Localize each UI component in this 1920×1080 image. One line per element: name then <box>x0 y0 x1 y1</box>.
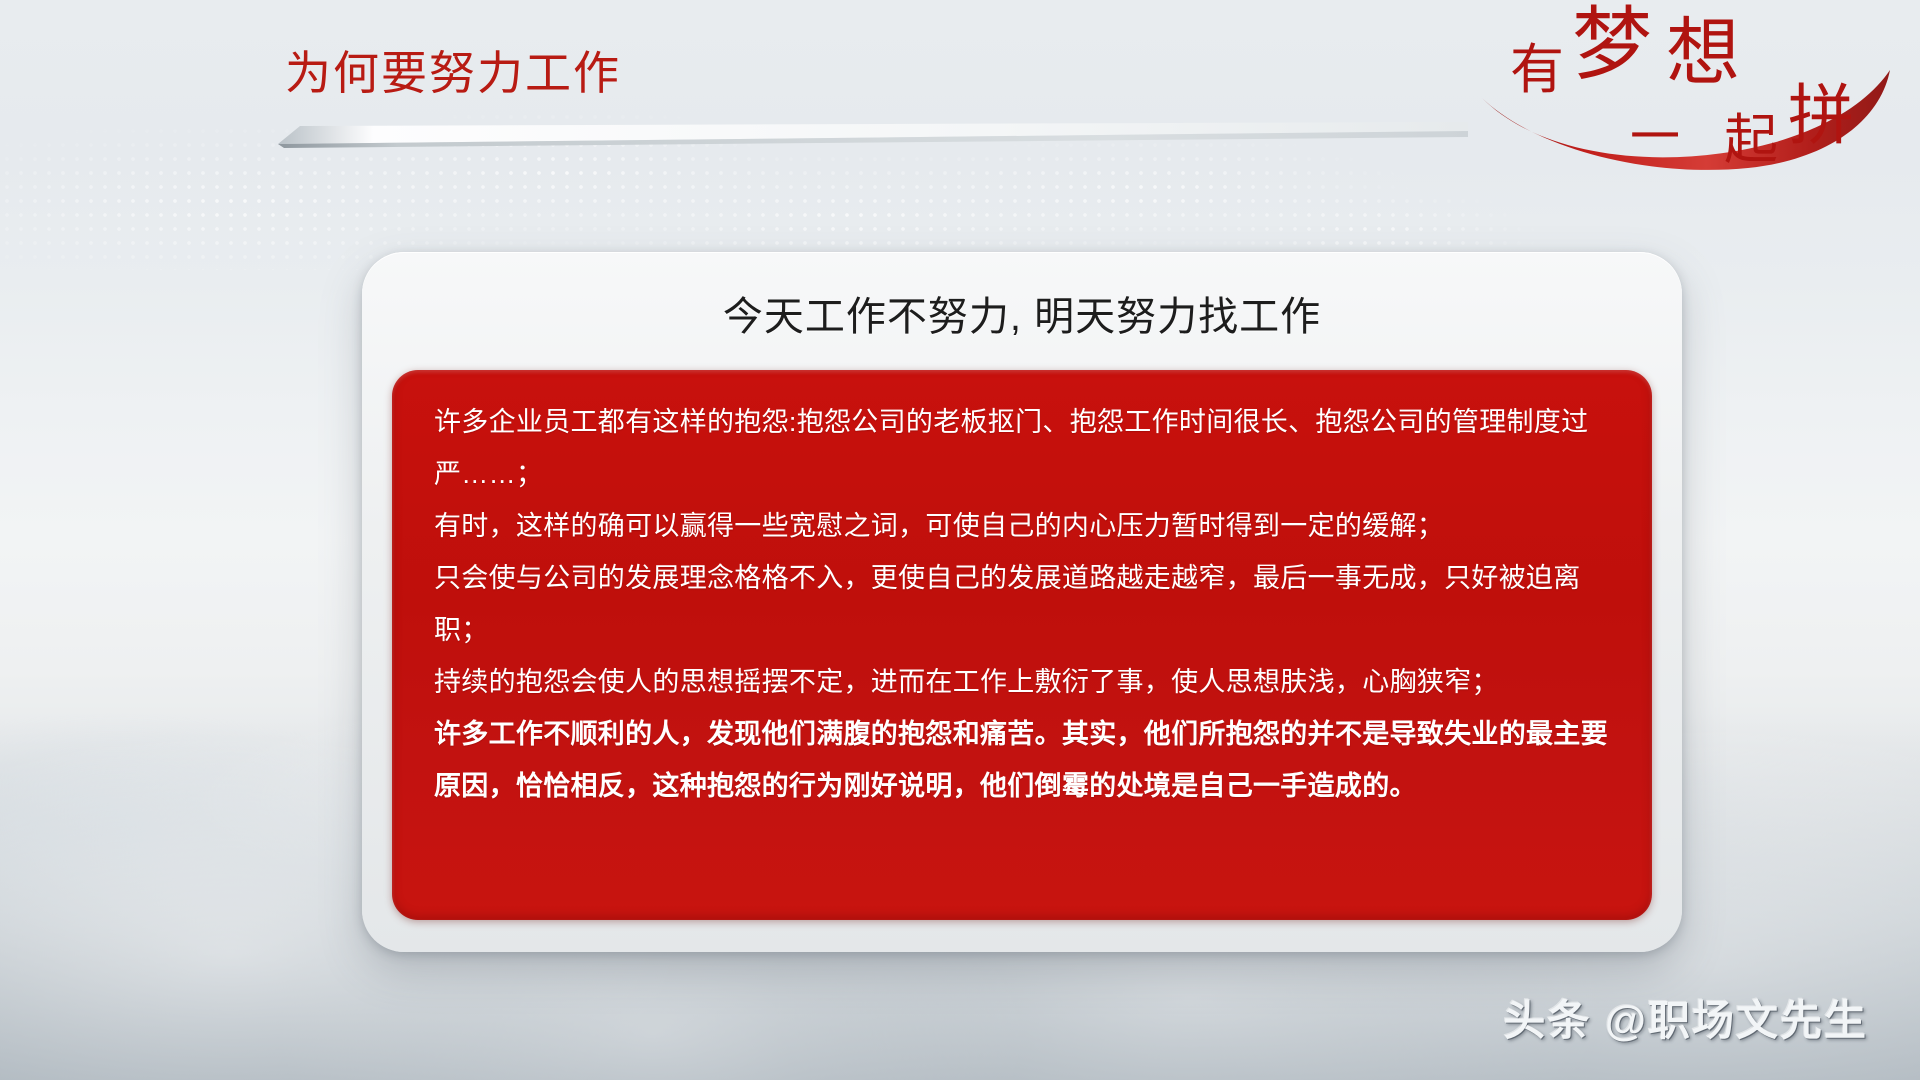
body-paragraph: 许多企业员工都有这样的抱怨:抱怨公司的老板抠门、抱怨工作时间很长、抱怨公司的管理… <box>434 396 1616 500</box>
dotted-world-map-texture <box>0 40 1560 270</box>
red-content-panel: 许多企业员工都有这样的抱怨:抱怨公司的老板抠门、抱怨工作时间很长、抱怨公司的管理… <box>392 370 1652 920</box>
logo-char-xiang: 想 <box>1666 13 1740 95</box>
body-paragraph: 有时，这样的确可以赢得一些宽慰之词，可使自己的内心压力暂时得到一定的缓解； <box>434 500 1616 552</box>
page-title: 为何要努力工作 <box>285 48 621 99</box>
body-paragraph: 许多工作不顺利的人，发现他们满腹的抱怨和痛苦。其实，他们所抱怨的并不是导致失业的… <box>434 708 1616 812</box>
content-card: 今天工作不努力, 明天努力找工作 许多企业员工都有这样的抱怨:抱怨公司的老板抠门… <box>362 252 1682 952</box>
logo-char-pin: 拼 <box>1788 80 1854 153</box>
body-paragraph: 持续的抱怨会使人的思想摇摆不定，进而在工作上敷衍了事，使人思想肤浅，心胸狭窄； <box>434 656 1616 708</box>
card-heading: 今天工作不努力, 明天努力找工作 <box>362 284 1682 342</box>
body-text-block: 许多企业员工都有这样的抱怨:抱怨公司的老板抠门、抱怨工作时间很长、抱怨公司的管理… <box>434 396 1616 812</box>
title-underline-rule <box>278 122 1468 148</box>
presentation-slide: 为何要努力工作 <box>0 0 1920 1080</box>
logo-char-qi: 起 <box>1724 110 1778 170</box>
brand-logo: 有 梦 想 一 起 拼 <box>1476 2 1896 170</box>
logo-char-you: 有 <box>1510 40 1564 100</box>
logo-char-meng: 梦 <box>1572 2 1652 90</box>
logo-char-yi: 一 <box>1630 109 1680 165</box>
body-paragraph: 只会使与公司的发展理念格格不入，更使自己的发展道路越走越窄，最后一事无成，只好被… <box>434 552 1616 656</box>
swoosh-shape <box>1482 70 1890 170</box>
watermark-credit: 头条 @职场文先生 <box>1503 987 1868 1048</box>
